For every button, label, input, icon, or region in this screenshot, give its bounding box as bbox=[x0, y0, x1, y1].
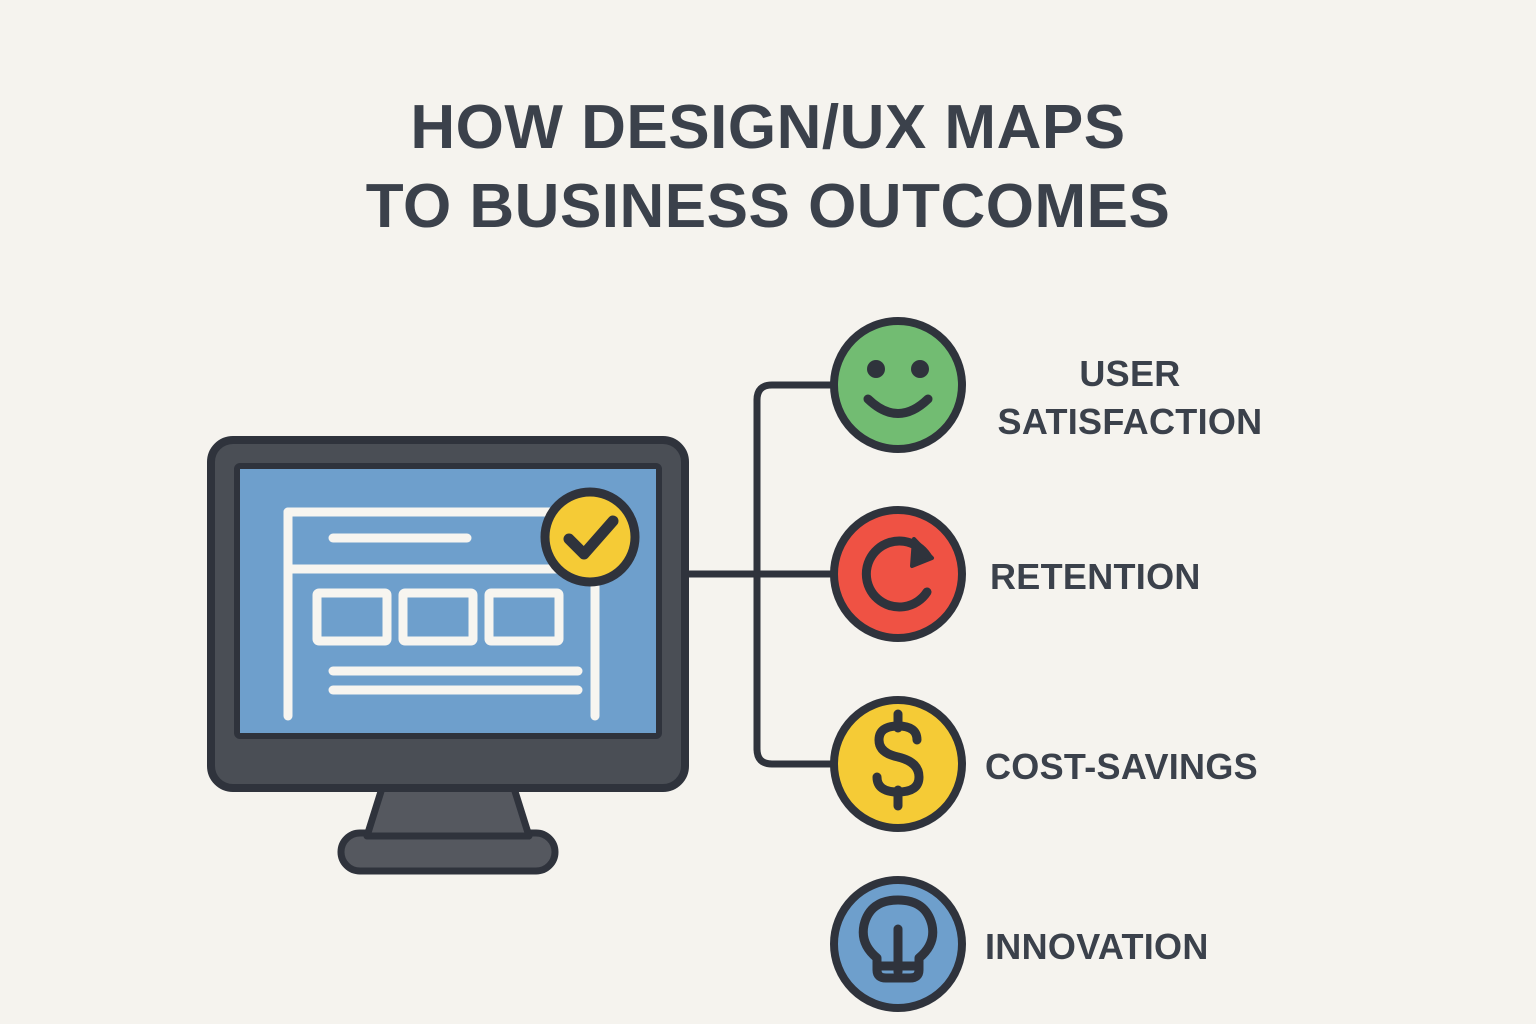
outcome-node-retention[interactable] bbox=[834, 510, 962, 638]
outcome-label-cost-savings: COST-SAVINGS bbox=[985, 743, 1315, 791]
retention-circle[interactable] bbox=[834, 510, 962, 638]
outcome-label-innovation: INNOVATION bbox=[985, 923, 1315, 971]
outcome-node-cost-savings[interactable] bbox=[834, 700, 962, 828]
connector-branch-cost-savings bbox=[757, 749, 832, 764]
outcome-node-user-satisfaction[interactable] bbox=[834, 321, 962, 449]
user-satisfaction-circle[interactable] bbox=[834, 321, 962, 449]
monitor-stand-neck bbox=[367, 785, 529, 836]
connector-branch-user-satisfaction bbox=[757, 385, 832, 400]
monitor-illustration bbox=[211, 440, 685, 871]
outcome-label-retention: RETENTION bbox=[990, 553, 1290, 601]
check-circle-icon bbox=[545, 492, 635, 582]
outcome-node-innovation[interactable] bbox=[834, 880, 962, 1008]
diagram-canvas bbox=[0, 0, 1536, 1024]
outcome-label-user-satisfaction: USER SATISFACTION bbox=[980, 350, 1280, 445]
infographic-root: HOW DESIGN/UX MAPS TO BUSINESS OUTCOMES bbox=[0, 0, 1536, 1024]
connector-lines bbox=[683, 385, 832, 764]
